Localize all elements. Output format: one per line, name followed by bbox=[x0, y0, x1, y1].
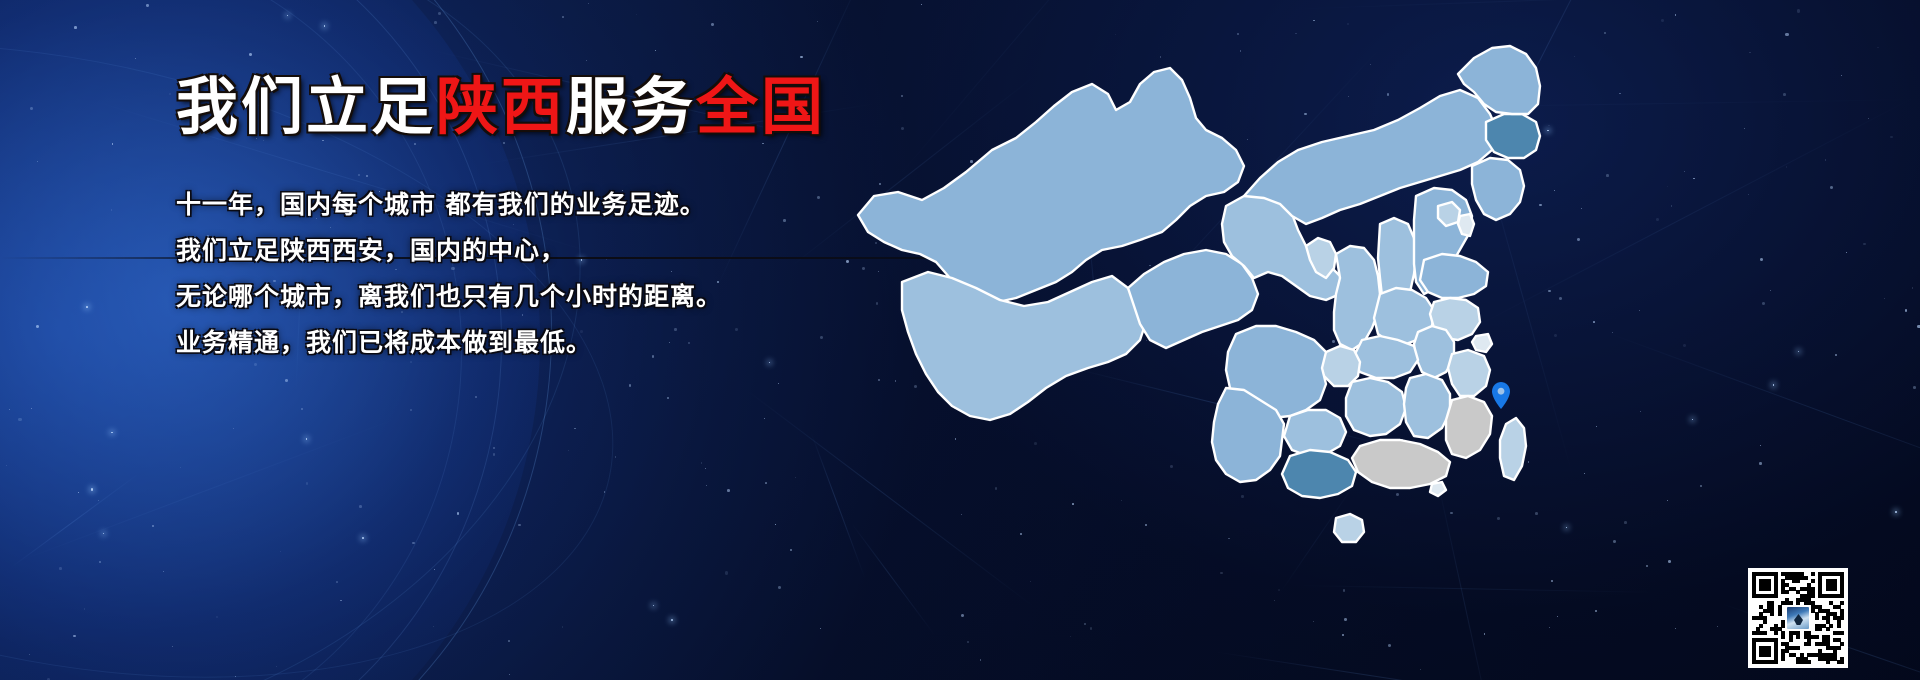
province-hainan bbox=[1334, 514, 1364, 542]
province-jilin bbox=[1486, 114, 1540, 158]
province-tianjin bbox=[1458, 214, 1474, 236]
province-beijing bbox=[1438, 202, 1460, 226]
description-line-4: 业务精通，我们已将成本做到最低。 bbox=[176, 320, 876, 366]
page-title: 我们立足陕西服务全国 bbox=[176, 76, 876, 138]
location-marker-icon bbox=[1492, 382, 1510, 409]
banner-copy: 我们立足陕西服务全国 十一年，国内每个城市 都有我们的业务足迹。 我们立足陕西西… bbox=[176, 76, 876, 366]
province-fujian bbox=[1446, 396, 1492, 458]
china-map[interactable] bbox=[840, 10, 1540, 570]
province-zhejiang bbox=[1448, 350, 1490, 396]
headline-segment-2: 陕西 bbox=[436, 70, 566, 143]
qr-code-canvas bbox=[1752, 572, 1844, 664]
brand-logo-icon bbox=[1785, 605, 1811, 631]
province-liaoning bbox=[1472, 158, 1524, 220]
province-guangdong bbox=[1352, 440, 1450, 488]
promo-banner: 我们立足陕西服务全国 十一年，国内每个城市 都有我们的业务足迹。 我们立足陕西西… bbox=[0, 0, 1920, 680]
province-hongkong bbox=[1430, 482, 1446, 496]
province-taiwan bbox=[1500, 418, 1526, 480]
province-guangxi bbox=[1282, 450, 1356, 498]
province-shanghai bbox=[1472, 334, 1492, 352]
headline-segment-4: 全国 bbox=[696, 70, 826, 143]
qr-code[interactable] bbox=[1748, 568, 1848, 668]
description-line-3: 无论哪个城市，离我们也只有几个小时的距离。 bbox=[176, 274, 876, 320]
province-guizhou bbox=[1284, 410, 1346, 456]
province-shaanxi bbox=[1334, 246, 1380, 350]
description-line-1: 十一年，国内每个城市 都有我们的业务足迹。 bbox=[176, 182, 876, 228]
description-line-2: 我们立足陕西西安，国内的中心， bbox=[176, 228, 876, 274]
province-hunan bbox=[1346, 378, 1406, 436]
headline-segment-1: 我们立足 bbox=[176, 70, 436, 143]
headline-segment-3: 服务 bbox=[566, 70, 696, 143]
banner-description: 十一年，国内每个城市 都有我们的业务足迹。 我们立足陕西西安，国内的中心， 无论… bbox=[176, 182, 876, 366]
province-jiangxi bbox=[1404, 374, 1450, 438]
province-shandong bbox=[1420, 254, 1488, 298]
